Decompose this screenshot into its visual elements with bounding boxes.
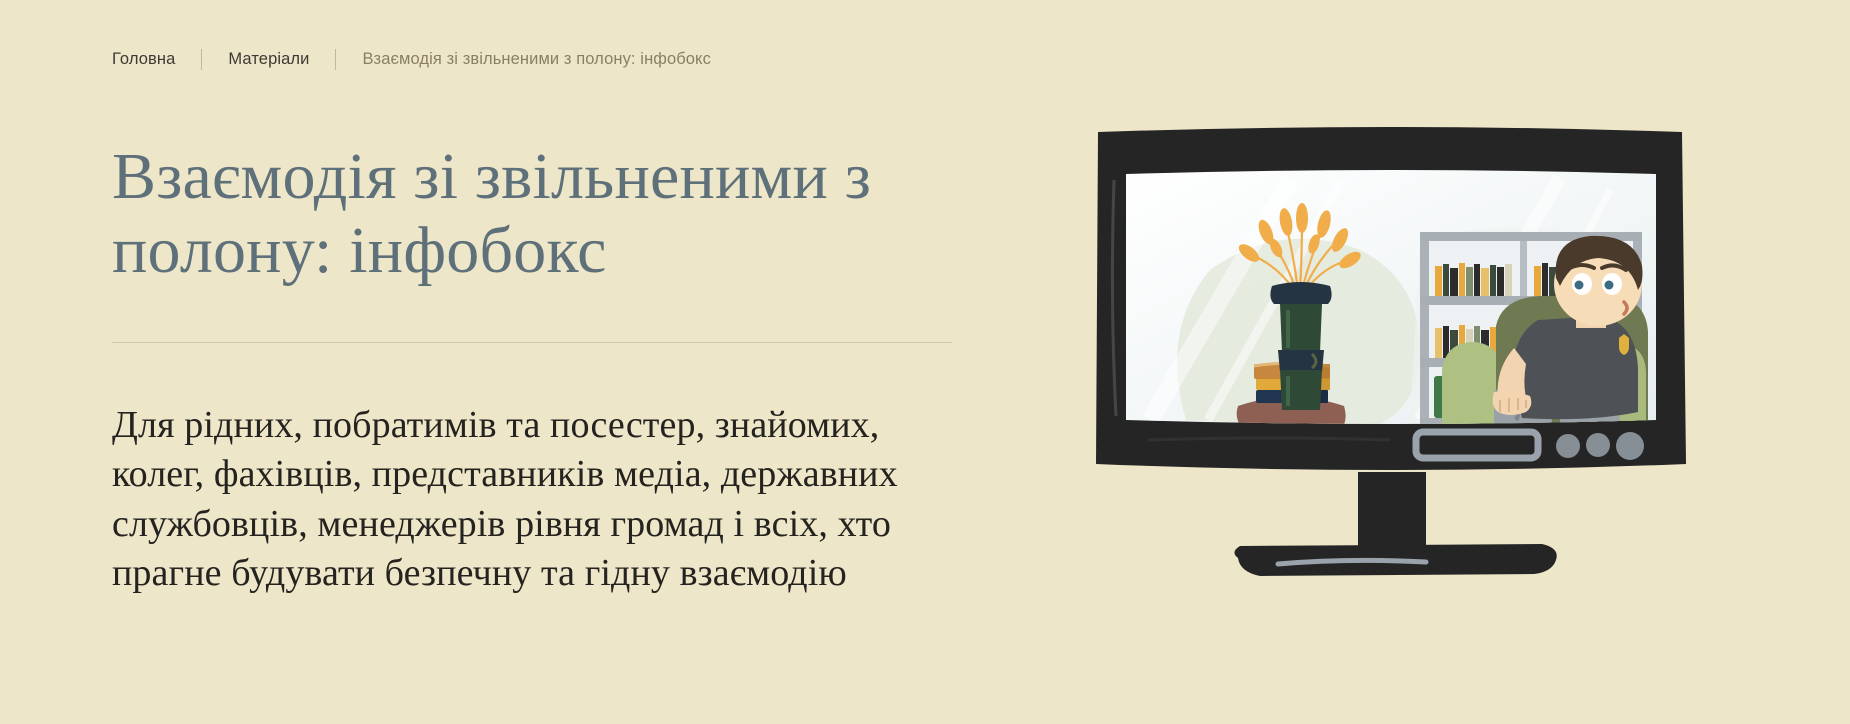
breadcrumb-item-home[interactable]: Головна	[112, 48, 175, 70]
tv-stand	[1234, 472, 1556, 576]
shirt-emblem-icon	[1619, 334, 1629, 355]
breadcrumb-item-materials[interactable]: Матеріали	[228, 48, 309, 70]
armchair-left-arm	[1442, 342, 1502, 428]
hero-illustration	[1090, 120, 1690, 640]
hero-text-column: Взаємодія зі звільненими з полону: інфоб…	[112, 140, 942, 598]
vase-collar	[1270, 282, 1331, 304]
hero-lede: Для рідних, побратимів та посестер, знай…	[112, 401, 942, 599]
bezel-dots	[1556, 432, 1644, 460]
breadcrumb-separator	[201, 49, 202, 70]
hero-divider	[112, 342, 952, 343]
page-title: Взаємодія зі звільненими з полону: інфоб…	[112, 140, 902, 288]
breadcrumb-separator	[335, 49, 336, 70]
tv-stand-neck	[1358, 472, 1426, 550]
breadcrumb: Головна Матеріали Взаємодія зі звільнени…	[112, 48, 711, 70]
tv-illustration-svg	[1090, 120, 1690, 640]
man-shirt	[1513, 316, 1638, 419]
page-root: Головна Матеріали Взаємодія зі звільнени…	[0, 0, 1850, 724]
breadcrumb-item-current: Взаємодія зі звільненими з полону: інфоб…	[362, 48, 710, 70]
